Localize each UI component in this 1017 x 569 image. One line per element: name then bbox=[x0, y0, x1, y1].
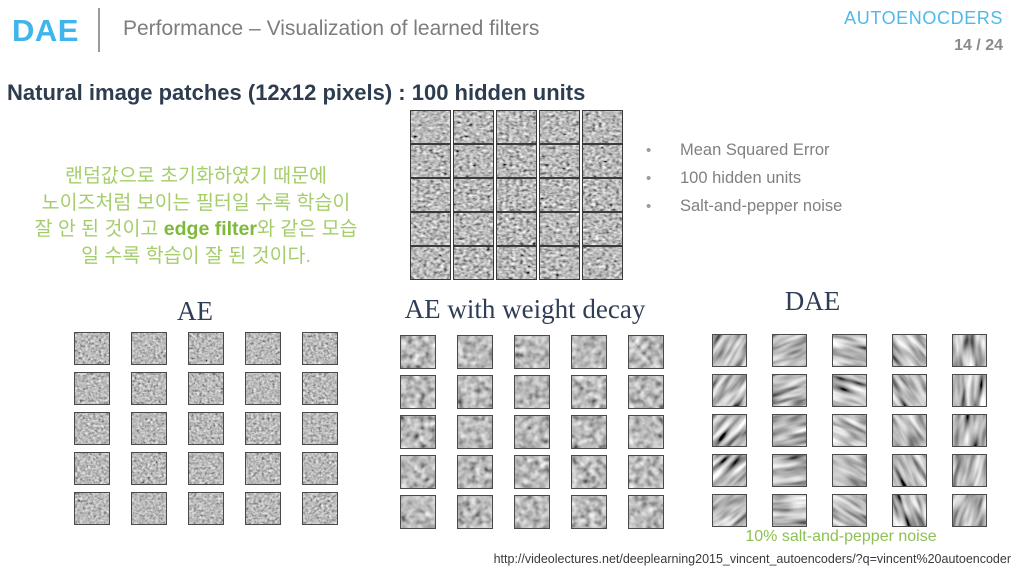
filter-tile bbox=[712, 374, 747, 407]
filter-tile bbox=[74, 452, 110, 485]
filter-tile bbox=[188, 452, 224, 485]
note-line-1: 랜덤값으로 초기화하였기 때문에 bbox=[0, 163, 392, 190]
note-line-2: 노이즈처럼 보이는 필터일 수록 학습이 bbox=[0, 190, 392, 217]
bullet-dot-icon: • bbox=[646, 165, 680, 193]
filter-tile bbox=[952, 334, 987, 367]
filter-tile bbox=[410, 144, 451, 178]
filter-tile bbox=[400, 335, 436, 369]
filter-tile bbox=[74, 332, 110, 365]
filter-tile bbox=[453, 246, 494, 280]
filter-tile bbox=[514, 455, 550, 489]
filter-tile bbox=[400, 375, 436, 409]
filter-tile bbox=[772, 414, 807, 447]
filter-tile bbox=[453, 110, 494, 144]
filter-tile bbox=[245, 452, 281, 485]
filter-tile bbox=[453, 212, 494, 246]
filter-tile bbox=[712, 494, 747, 527]
grid-label-dae: DAE bbox=[720, 286, 905, 317]
filter-tile bbox=[496, 144, 537, 178]
filter-tile bbox=[539, 178, 580, 212]
filter-tile bbox=[496, 178, 537, 212]
filter-tile bbox=[832, 374, 867, 407]
filter-tile bbox=[514, 495, 550, 529]
filter-tile bbox=[410, 246, 451, 280]
note-line-3: 잘 안 된 것이고 edge filter와 같은 모습 bbox=[0, 216, 392, 243]
filter-tile bbox=[892, 494, 927, 527]
filter-tile bbox=[496, 246, 537, 280]
filter-tile bbox=[892, 334, 927, 367]
filter-tile bbox=[400, 495, 436, 529]
filter-tile bbox=[712, 454, 747, 487]
noise-caption: 10% salt-and-pepper noise bbox=[712, 528, 970, 546]
filter-tile bbox=[772, 374, 807, 407]
header-section-label: AUTOENOCDERS bbox=[844, 8, 1003, 29]
filter-grid-ae bbox=[74, 332, 338, 525]
filter-tile bbox=[410, 178, 451, 212]
filter-tile bbox=[453, 178, 494, 212]
filter-tile bbox=[302, 332, 338, 365]
filter-tile bbox=[457, 375, 493, 409]
bullet-dot-icon: • bbox=[646, 193, 680, 221]
filter-tile bbox=[628, 495, 664, 529]
filter-tile bbox=[131, 332, 167, 365]
filter-tile bbox=[539, 212, 580, 246]
slide-title: Natural image patches (12x12 pixels) : 1… bbox=[7, 80, 585, 106]
filter-tile bbox=[582, 212, 623, 246]
filter-tile bbox=[628, 455, 664, 489]
filter-tile bbox=[245, 492, 281, 525]
filter-tile bbox=[302, 412, 338, 445]
filter-tile bbox=[772, 454, 807, 487]
natural-image-patch-grid bbox=[410, 110, 623, 280]
filter-tile bbox=[410, 110, 451, 144]
filter-tile bbox=[74, 412, 110, 445]
bullet-label: 100 hidden units bbox=[680, 164, 801, 192]
filter-tile bbox=[457, 495, 493, 529]
filter-tile bbox=[892, 374, 927, 407]
filter-tile bbox=[453, 144, 494, 178]
filter-tile bbox=[832, 414, 867, 447]
slide-header: DAE Performance – Visualization of learn… bbox=[0, 0, 1017, 68]
filter-tile bbox=[582, 246, 623, 280]
filter-tile bbox=[582, 178, 623, 212]
filter-tile bbox=[952, 414, 987, 447]
filter-tile bbox=[571, 455, 607, 489]
filter-tile bbox=[302, 452, 338, 485]
filter-tile bbox=[302, 492, 338, 525]
bullet-dot-icon: • bbox=[646, 137, 680, 165]
brand-logo: DAE bbox=[12, 13, 79, 49]
filter-tile bbox=[245, 372, 281, 405]
filter-tile bbox=[539, 110, 580, 144]
note-highlight-edge-filter: edge filter bbox=[164, 218, 257, 240]
filter-tile bbox=[571, 375, 607, 409]
filter-tile bbox=[245, 412, 281, 445]
filter-tile bbox=[892, 414, 927, 447]
filter-tile bbox=[410, 212, 451, 246]
list-item: • 100 hidden units bbox=[646, 164, 946, 192]
note-line-3-suffix: 와 같은 모습 bbox=[257, 218, 358, 240]
filter-tile bbox=[188, 372, 224, 405]
filter-tile bbox=[539, 246, 580, 280]
filter-tile bbox=[302, 372, 338, 405]
filter-tile bbox=[952, 494, 987, 527]
note-line-3-prefix: 잘 안 된 것이고 bbox=[34, 218, 163, 240]
list-item: • Salt-and-pepper noise bbox=[646, 192, 946, 220]
filter-tile bbox=[496, 212, 537, 246]
filter-tile bbox=[400, 455, 436, 489]
filter-tile bbox=[582, 110, 623, 144]
bullet-list: • Mean Squared Error • 100 hidden units … bbox=[646, 136, 946, 220]
filter-tile bbox=[457, 455, 493, 489]
filter-tile bbox=[539, 144, 580, 178]
page-number: 14 / 24 bbox=[954, 37, 1003, 55]
filter-tile bbox=[772, 334, 807, 367]
filter-tile bbox=[582, 144, 623, 178]
filter-tile bbox=[832, 334, 867, 367]
source-url: http://videolectures.net/deeplearning201… bbox=[0, 552, 1011, 566]
filter-tile bbox=[74, 372, 110, 405]
filter-tile bbox=[496, 110, 537, 144]
korean-annotation: 랜덤값으로 초기화하였기 때문에 노이즈처럼 보이는 필터일 수록 학습이 잘 … bbox=[0, 163, 392, 269]
filter-tile bbox=[571, 495, 607, 529]
header-subtitle: Performance – Visualization of learned f… bbox=[123, 17, 539, 41]
filter-tile bbox=[188, 332, 224, 365]
filter-grid-dae bbox=[712, 334, 987, 527]
filter-tile bbox=[514, 335, 550, 369]
note-line-4: 일 수록 학습이 잘 된 것이다. bbox=[0, 243, 392, 270]
filter-tile bbox=[628, 415, 664, 449]
filter-tile bbox=[628, 375, 664, 409]
header-divider bbox=[98, 8, 100, 52]
grid-label-ae: AE bbox=[120, 296, 270, 327]
filter-tile bbox=[832, 454, 867, 487]
filter-tile bbox=[131, 492, 167, 525]
filter-tile bbox=[772, 494, 807, 527]
filter-tile bbox=[952, 454, 987, 487]
filter-tile bbox=[712, 414, 747, 447]
filter-grid-weight-decay bbox=[400, 335, 664, 529]
bullet-label: Salt-and-pepper noise bbox=[680, 192, 842, 220]
filter-tile bbox=[131, 372, 167, 405]
filter-tile bbox=[571, 335, 607, 369]
filter-tile bbox=[245, 332, 281, 365]
filter-tile bbox=[188, 412, 224, 445]
filter-tile bbox=[892, 454, 927, 487]
bullet-label: Mean Squared Error bbox=[680, 136, 830, 164]
filter-tile bbox=[514, 415, 550, 449]
filter-tile bbox=[571, 415, 607, 449]
filter-tile bbox=[952, 374, 987, 407]
filter-tile bbox=[457, 415, 493, 449]
filter-tile bbox=[712, 334, 747, 367]
list-item: • Mean Squared Error bbox=[646, 136, 946, 164]
filter-tile bbox=[457, 335, 493, 369]
filter-tile bbox=[74, 492, 110, 525]
filter-tile bbox=[832, 494, 867, 527]
filter-tile bbox=[131, 452, 167, 485]
filter-tile bbox=[514, 375, 550, 409]
filter-tile bbox=[400, 415, 436, 449]
filter-tile bbox=[131, 412, 167, 445]
grid-label-weight-decay: AE with weight decay bbox=[380, 294, 670, 325]
filter-tile bbox=[628, 335, 664, 369]
filter-tile bbox=[188, 492, 224, 525]
